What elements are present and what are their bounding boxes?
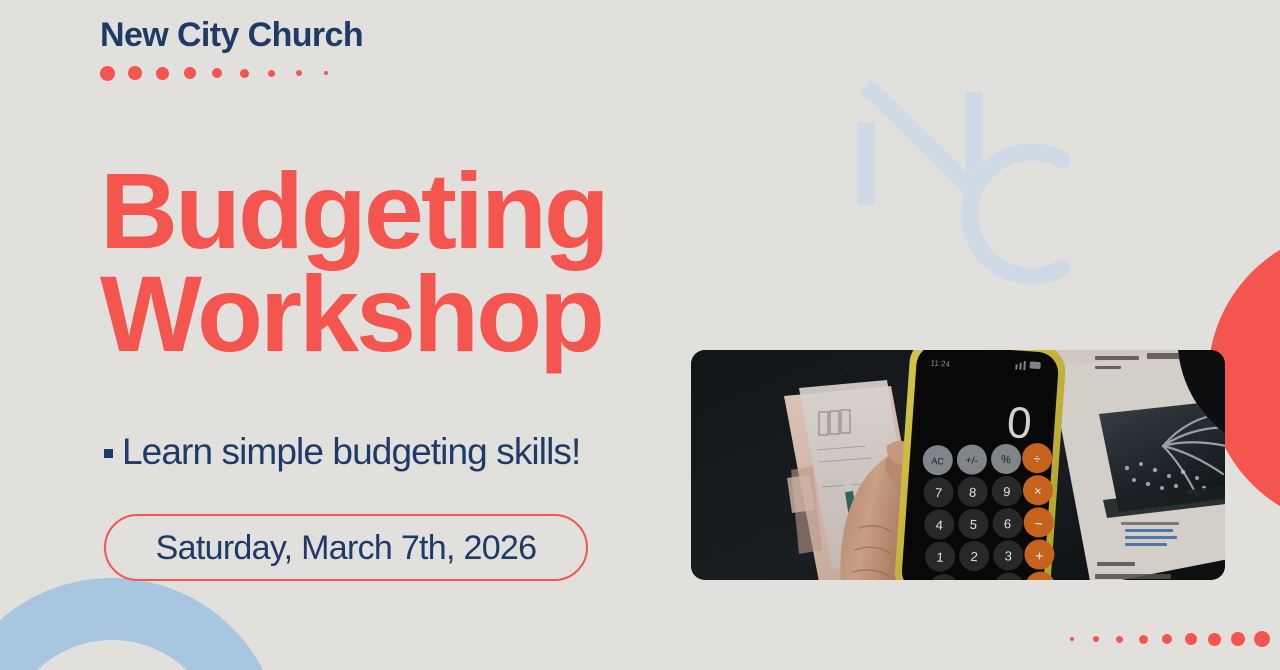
subtitle: Learn simple budgeting skills! <box>104 433 580 470</box>
headline-line-2: Workshop <box>100 263 607 366</box>
decorative-dot <box>324 71 328 75</box>
logo-wordmark: New City Church <box>100 18 363 52</box>
decorative-dot <box>1093 636 1099 642</box>
decorative-dot <box>184 67 196 79</box>
logo-dot-row <box>100 64 363 82</box>
decorative-dot <box>212 68 222 78</box>
decorative-dot <box>128 66 142 80</box>
decorative-dot <box>1139 635 1148 644</box>
decorative-dot <box>1254 631 1270 647</box>
square-bullet-icon <box>104 449 113 458</box>
decorative-dot <box>240 69 249 78</box>
decorative-dot <box>268 70 275 77</box>
decorative-dot <box>1162 634 1172 644</box>
event-photo: 11:24 0 AC <box>691 350 1225 580</box>
decorative-dot <box>1231 632 1245 646</box>
decorative-dot <box>1070 637 1074 641</box>
event-date-pill[interactable]: Saturday, March 7th, 2026 <box>104 514 588 581</box>
decorative-dot <box>156 67 169 80</box>
decorative-dot <box>100 66 115 81</box>
decorative-dot <box>296 70 302 76</box>
decorative-dot <box>1208 633 1221 646</box>
event-date-text: Saturday, March 7th, 2026 <box>156 531 537 565</box>
brand-logo: New City Church <box>100 18 363 82</box>
page-title: Budgeting Workshop <box>100 160 607 365</box>
nc-monogram-watermark <box>856 80 1086 300</box>
event-photo-image: 11:24 0 AC <box>691 350 1225 580</box>
subtitle-text: Learn simple budgeting skills! <box>122 433 580 470</box>
poster-canvas: New City Church Budgeting Workshop Learn… <box>0 0 1280 670</box>
footer-dot-row <box>1070 630 1277 648</box>
blue-ring-decoration <box>0 578 282 670</box>
decorative-dot <box>1116 636 1123 643</box>
decorative-dot <box>1185 633 1197 645</box>
